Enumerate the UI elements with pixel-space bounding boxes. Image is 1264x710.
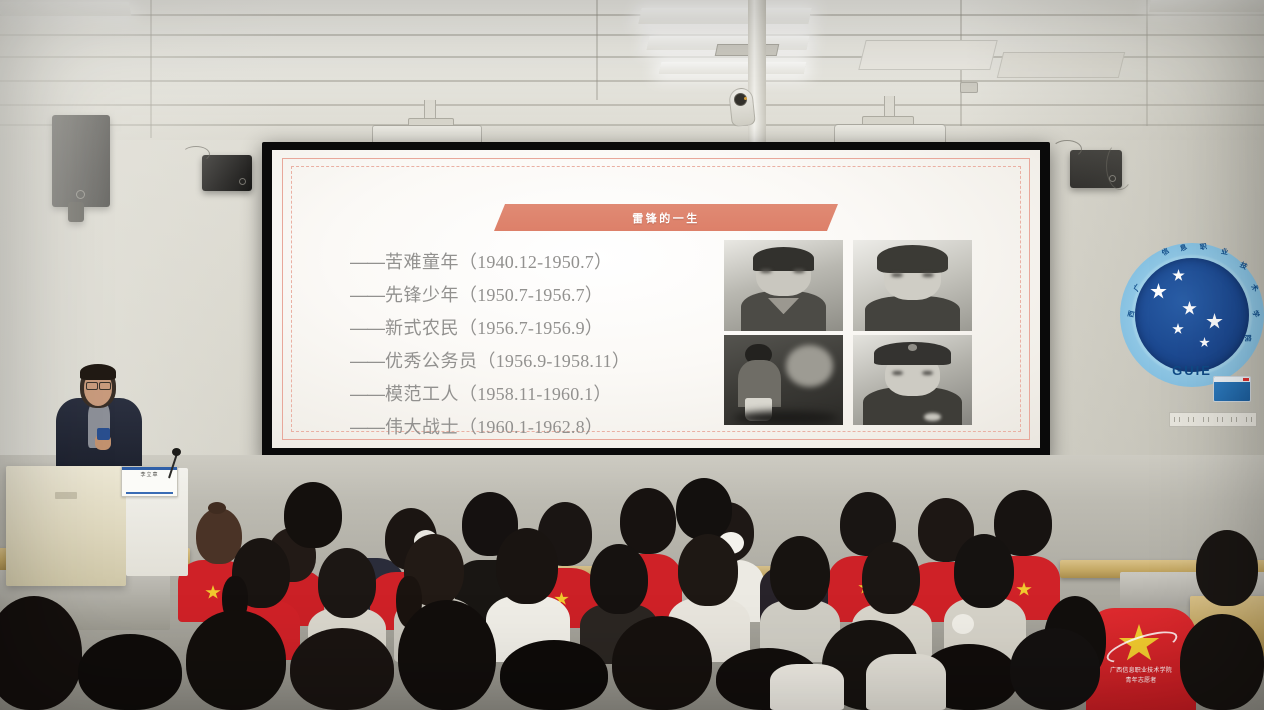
audience-head	[620, 488, 676, 554]
audience-head	[770, 536, 830, 610]
logo-ring-char: 职	[1199, 242, 1207, 253]
bullet-dash: ——	[350, 384, 384, 405]
audience-head-foreground	[186, 610, 286, 710]
projection-screen-surface[interactable]: 雷锋的一生 —— 苦难童年 （1940.12-1950.7） —— 先锋少年 （…	[272, 150, 1040, 448]
lecture-hall-scene: EPSON EPSON 信 息 职 业 技 术 学 院 西 广	[0, 0, 1264, 710]
slide-title: 雷锋的一生	[632, 210, 700, 226]
bullet-label: 优秀公务员	[385, 347, 478, 373]
bullet-years: （1958.11-1960.1）	[459, 380, 612, 406]
handheld-microphone[interactable]	[97, 428, 110, 440]
vest-text-line-2: 青年志愿者	[1088, 678, 1194, 685]
audience-head-foreground	[500, 640, 608, 710]
wall-info-plate	[1213, 376, 1251, 402]
bullet-label: 先锋少年	[385, 281, 459, 307]
wall-outlet-strip	[1169, 412, 1257, 427]
list-item: —— 优秀公务员 （1956.9-1958.11）	[350, 347, 710, 373]
audience-head-foreground	[78, 634, 182, 710]
audience-head	[1196, 530, 1258, 606]
audience-head	[284, 482, 342, 548]
audience-head	[590, 544, 648, 614]
photo-working-with-kettle	[724, 335, 843, 426]
audience-head	[678, 534, 738, 606]
bullet-years: （1960.1-1962.8）	[459, 413, 603, 439]
vest-text-line-1: 广西信息职业技术学院	[1088, 668, 1194, 675]
list-item: —— 苦难童年 （1940.12-1950.7）	[350, 248, 710, 274]
audience-head	[954, 534, 1014, 608]
bullet-dash: ——	[350, 351, 384, 372]
presentation-slide: 雷锋的一生 —— 苦难童年 （1940.12-1950.7） —— 先锋少年 （…	[272, 150, 1040, 448]
logo-ring-char: 院	[1242, 334, 1252, 341]
speaker-glasses-icon	[86, 382, 98, 390]
bullet-dash: ——	[350, 318, 384, 339]
photo-young-pioneer	[724, 240, 843, 331]
podium-logo	[55, 492, 77, 499]
audience-head	[862, 542, 920, 614]
slide-bullet-list: —— 苦难童年 （1940.12-1950.7） —— 先锋少年 （1950.7…	[350, 248, 710, 439]
school-logo: 信 息 职 业 技 术 学 院 西 广 GUIE	[1120, 243, 1264, 387]
bullet-dash: ——	[350, 252, 384, 273]
audience-head-foreground	[612, 616, 712, 710]
audience-head	[676, 478, 732, 540]
list-item: —— 模范工人 （1958.11-1960.1）	[350, 380, 710, 406]
ceiling-light	[659, 62, 807, 74]
photo-soldier-uniform	[853, 335, 972, 426]
audience-head	[318, 548, 376, 618]
slide-photo-grid	[724, 240, 972, 425]
audience-member	[770, 664, 844, 710]
list-item: —— 先锋少年 （1950.7-1956.7）	[350, 281, 710, 307]
bullet-dash: ——	[350, 417, 384, 438]
audience-head-foreground	[398, 600, 496, 710]
podium-mic-head	[172, 448, 181, 456]
bullet-dash: ——	[350, 285, 384, 306]
bullet-label: 伟大战士	[385, 413, 459, 439]
bullet-label: 模范工人	[385, 380, 459, 406]
audience-head	[496, 528, 558, 604]
photo-youth-with-cap	[853, 240, 972, 331]
bullet-years: （1950.7-1956.7）	[459, 281, 603, 307]
audience-member	[866, 654, 946, 710]
bullet-years: （1940.12-1950.7）	[459, 248, 612, 274]
audience-head	[1180, 614, 1264, 710]
bullet-label: 新式农民	[385, 314, 459, 340]
slide-title-banner: 雷锋的一生	[494, 204, 838, 231]
bullet-years: （1956.9-1958.11）	[478, 347, 631, 373]
ceiling-light	[638, 8, 811, 24]
ceiling-vent	[715, 44, 780, 56]
list-item: —— 新式农民 （1956.7-1956.9）	[350, 314, 710, 340]
bullet-years: （1956.7-1956.9）	[459, 314, 603, 340]
speaker-glasses-icon	[99, 382, 111, 390]
bullet-label: 苦难童年	[385, 248, 459, 274]
speaker-hair	[80, 364, 116, 380]
list-item: —— 伟大战士 （1960.1-1962.8）	[350, 413, 710, 439]
audience-head-foreground	[290, 628, 394, 710]
podium	[6, 466, 126, 586]
audience-head-foreground	[1010, 628, 1100, 710]
